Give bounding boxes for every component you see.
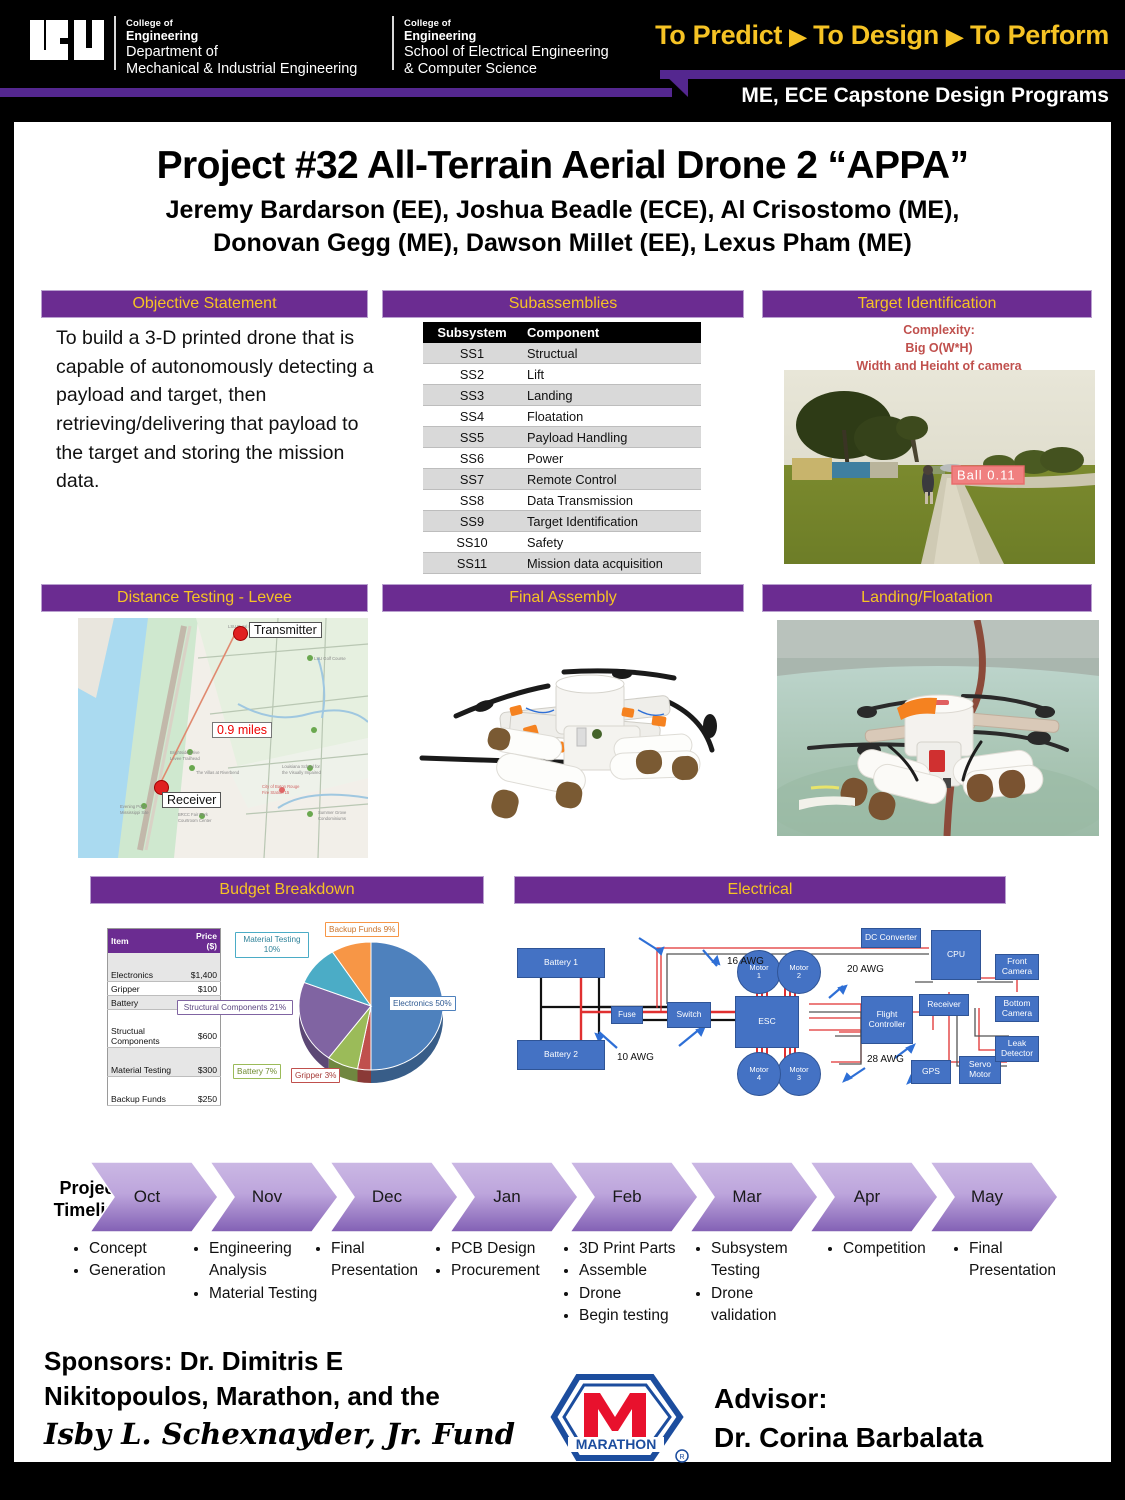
subsystem-id: SS1 (423, 343, 521, 364)
timeline-tasks-oct: ConceptGeneration (72, 1238, 204, 1283)
timeline-tasks-mar: Subsystem TestingDrone validation (694, 1238, 822, 1328)
svg-text:Condominiums: Condominiums (318, 816, 346, 821)
awg-label-20: 20 AWG (847, 964, 884, 975)
svg-text:Louisiana School for: Louisiana School for (282, 764, 321, 769)
block-gps: GPS (911, 1060, 951, 1084)
transmitter-label: Transmitter (249, 622, 322, 638)
timeline-chevron-oct: Oct (90, 1162, 218, 1232)
electrical-block-diagram: Battery 1 Battery 2 Fuse Switch ESC Flig… (509, 912, 1049, 1117)
receiver-label: Receiver (162, 792, 221, 808)
col-component: Component (521, 322, 701, 343)
table-row: SS6Power (423, 448, 701, 469)
timeline-month-label: Apr (810, 1162, 938, 1232)
list-item: Concept (89, 1238, 204, 1260)
block-fuse: Fuse (611, 1006, 643, 1024)
list-item: Final Presentation (969, 1238, 1092, 1283)
dept1-line1: Department of (126, 44, 357, 61)
poster-sheet: Project #32 All-Terrain Aerial Drone 2 “… (14, 122, 1111, 1462)
budget-header-row: Item Price ($) (108, 929, 221, 954)
section-header-objective: Objective Statement (41, 290, 368, 318)
svg-text:R: R (679, 1454, 684, 1461)
tagline-perform: To Perform (970, 20, 1109, 50)
block-receiver: Receiver (919, 994, 969, 1016)
banner-rule-right (660, 70, 1125, 79)
component-name: Mission data acquisition (521, 553, 701, 574)
detection-label-text: Ball 0.11 (957, 468, 1016, 483)
budget-item: Backup Funds (108, 1092, 184, 1106)
transmitter-pin-icon (233, 626, 248, 641)
subsystem-id: SS11 (423, 553, 521, 574)
subsystem-id: SS2 (423, 364, 521, 385)
marathon-wordmark: MARATHON (576, 1436, 657, 1452)
svg-text:Evening Point: Evening Point (120, 804, 147, 809)
list-item: Subsystem Testing (711, 1238, 822, 1283)
component-name: Target Identification (521, 511, 701, 532)
authors-line-2: Donovan Gegg (ME), Dawson Millet (EE), L… (14, 227, 1111, 260)
timeline-tasks-feb: 3D Print PartsAssembleDroneBegin testing (562, 1238, 694, 1328)
component-name: Power (521, 448, 701, 469)
subsystem-id: SS5 (423, 427, 521, 448)
subsystem-id: SS4 (423, 406, 521, 427)
component-name: Payload Handling (521, 427, 701, 448)
timeline-tasks-jan: PCB DesignProcurement (434, 1238, 566, 1283)
pie-label-battery: Battery 7% (233, 1064, 281, 1079)
table-row: Structual Components$600 (108, 1025, 221, 1048)
budget-table: Item Price ($) Electronics$1,400Gripper$… (107, 928, 221, 1106)
budget-price: $1,400 (183, 968, 220, 982)
subassemblies-table: Subsystem Component SS1StructualSS2LiftS… (423, 322, 701, 574)
block-front-camera: FrontCamera (995, 954, 1039, 980)
component-name: Remote Control (521, 469, 701, 490)
list-item: Generation (89, 1260, 204, 1282)
svg-text:Courtroom Center: Courtroom Center (178, 818, 212, 823)
list-item: Drone (579, 1283, 694, 1305)
motor-2-label: Motor2 (789, 964, 808, 981)
block-leak-detector: LeakDetector (995, 1036, 1039, 1062)
pie-label-electronics: Electronics 50% (389, 996, 456, 1011)
timeline-tasks-may: Final Presentation (952, 1238, 1092, 1283)
svg-text:Fire Station 15: Fire Station 15 (262, 790, 290, 795)
complexity-line-2: Big O(W*H) (794, 340, 1084, 358)
logo-divider (114, 16, 116, 70)
svg-text:The Villas at Riverbend: The Villas at Riverbend (196, 770, 240, 775)
timeline-tasks-apr: Competition (826, 1238, 958, 1260)
list-item: Engineering Analysis (209, 1238, 324, 1283)
sponsors-line-2: Nikitopoulos, Marathon, and the (44, 1379, 554, 1414)
timeline-month-label: Mar (690, 1162, 818, 1232)
component-name: Floatation (521, 406, 701, 427)
block-flight-controller: FlightController (861, 996, 913, 1044)
dept-ece-block: College of Engineering School of Electri… (404, 18, 609, 78)
table-row: SS7Remote Control (423, 469, 701, 490)
svg-text:LSU Golf Course: LSU Golf Course (314, 656, 346, 661)
section-header-target-id: Target Identification (762, 290, 1092, 318)
awg-label-28: 28 AWG (867, 1054, 904, 1065)
objective-statement-text: To build a 3-D printed drone that is cap… (56, 324, 378, 496)
section-header-electrical: Electrical (514, 876, 1006, 904)
timeline-month-label: Jan (450, 1162, 578, 1232)
table-row: SS5Payload Handling (423, 427, 701, 448)
component-name: Lift (521, 364, 701, 385)
list-item: PCB Design (451, 1238, 566, 1260)
final-assembly-photo (414, 630, 754, 840)
banner-subtitle: ME, ECE Capstone Design Programs (741, 84, 1109, 108)
svg-text:Brightside Drive: Brightside Drive (170, 750, 200, 755)
timeline-month-label: Dec (330, 1162, 458, 1232)
timeline-chevron-apr: Apr (810, 1162, 938, 1232)
pie-label-backup-funds: Backup Funds 9% (325, 922, 399, 937)
block-battery-2: Battery 2 (517, 1040, 605, 1070)
timeline-chevron-feb: Feb (570, 1162, 698, 1232)
table-row: Backup Funds$250 (108, 1092, 221, 1106)
timeline-month-label: May (930, 1162, 1058, 1232)
advisor-block: Advisor: Dr. Corina Barbalata (714, 1380, 983, 1457)
top-banner: College of Engineering Department of Mec… (0, 0, 1125, 118)
complexity-note: Complexity: Big O(W*H) Width and Height … (794, 322, 1084, 375)
arrow-right-icon-2: ▶ (946, 24, 963, 49)
budget-pie-chart: Electronics 50% Gripper 3% Battery 7% St… (239, 920, 504, 1105)
budget-price: $250 (183, 1092, 220, 1106)
spacer-row (108, 1077, 221, 1093)
complexity-line-1: Complexity: (794, 322, 1084, 340)
author-list: Jeremy Bardarson (EE), Joshua Beadle (EC… (14, 194, 1111, 261)
list-item: Begin testing (579, 1305, 694, 1327)
block-dc-converter: DC Converter (861, 928, 921, 948)
block-motor-3: Motor3 (777, 1052, 821, 1096)
tagline-predict: To Predict (655, 20, 782, 50)
landing-floatation-photo (777, 620, 1099, 836)
pie-label-gripper: Gripper 3% (291, 1068, 340, 1083)
subsystem-id: SS6 (423, 448, 521, 469)
sponsors-text: Sponsors: Dr. Dimitris E Nikitopoulos, M… (44, 1344, 554, 1413)
block-switch: Switch (667, 1002, 711, 1028)
marathon-logo-icon: MARATHON R (548, 1365, 708, 1470)
timeline-month-label: Nov (210, 1162, 338, 1232)
table-row: Gripper$100 (108, 982, 221, 996)
timeline-tasks-dec: Final Presentation (314, 1238, 436, 1283)
table-row: SS4Floatation (423, 406, 701, 427)
pie-label-material-testing: Material Testing 10% (235, 932, 309, 958)
pie-label-structural: Structural Components 21% (177, 1000, 293, 1015)
timeline-chevron-may: May (930, 1162, 1058, 1232)
distance-label: 0.9 miles (212, 722, 272, 738)
list-item: Drone validation (711, 1283, 822, 1328)
page-title: Project #32 All-Terrain Aerial Drone 2 “… (14, 144, 1111, 188)
dept1-line2: Mechanical & Industrial Engineering (126, 61, 357, 78)
timeline-chevron-dec: Dec (330, 1162, 458, 1232)
svg-text:City of Baton Rouge: City of Baton Rouge (262, 784, 300, 789)
banner-rule-left (0, 88, 672, 97)
sponsors-line-1: Sponsors: Dr. Dimitris E (44, 1344, 554, 1379)
list-item: 3D Print Parts (579, 1238, 694, 1260)
advisor-name: Dr. Corina Barbalata (714, 1419, 983, 1458)
table-row: SS8Data Transmission (423, 490, 701, 511)
svg-text:Levee Trailhead: Levee Trailhead (170, 756, 200, 761)
component-name: Safety (521, 532, 701, 553)
budget-item: Gripper (108, 982, 184, 996)
timeline-chevron-jan: Jan (450, 1162, 578, 1232)
lsu-logo-icon (28, 18, 104, 62)
table-row: Electronics$1,400 (108, 968, 221, 982)
budget-item: Electronics (108, 968, 184, 982)
dept1-college: College of (126, 18, 357, 29)
dept-mechanical-block: College of Engineering Department of Mec… (126, 18, 357, 78)
block-motor-4: Motor4 (737, 1052, 781, 1096)
budget-item: Battery (108, 996, 184, 1010)
awg-label-16: 16 AWG (727, 956, 764, 967)
budget-col-item: Item (108, 929, 184, 954)
levee-distance-map[interactable]: LSU Rural Life Brightside Drive Levee Tr… (78, 618, 368, 858)
list-item: Competition (843, 1238, 958, 1260)
subsystem-id: SS3 (423, 385, 521, 406)
logo-divider-2 (392, 16, 394, 70)
dept2-engineering: Engineering (404, 29, 609, 44)
list-item: Procurement (451, 1260, 566, 1282)
budget-price: $600 (183, 1025, 220, 1048)
table-row: Material Testing$300 (108, 1063, 221, 1077)
budget-item: Material Testing (108, 1063, 184, 1077)
spacer-row (108, 1048, 221, 1064)
fund-name: Isby L. Schexnayder, Jr. Fund (44, 1417, 554, 1451)
target-detection-photo: Ball 0.11 (784, 370, 1095, 564)
timeline-chevron-nov: Nov (210, 1162, 338, 1232)
block-esc: ESC (735, 996, 799, 1048)
svg-text:Summer Grove: Summer Grove (318, 810, 347, 815)
svg-text:the Visually Impaired: the Visually Impaired (282, 770, 321, 775)
section-header-subassemblies: Subassemblies (382, 290, 744, 318)
table-row: SS9Target Identification (423, 511, 701, 532)
subsystem-id: SS8 (423, 490, 521, 511)
timeline-month-label: Oct (90, 1162, 218, 1232)
subsystem-id: SS9 (423, 511, 521, 532)
table-row: SS2Lift (423, 364, 701, 385)
authors-line-1: Jeremy Bardarson (EE), Joshua Beadle (EC… (14, 194, 1111, 227)
block-motor-2: Motor2 (777, 950, 821, 994)
awg-label-10: 10 AWG (617, 1052, 654, 1063)
component-name: Data Transmission (521, 490, 701, 511)
section-header-distance-testing: Distance Testing - Levee (41, 584, 368, 612)
section-header-landing-floatation: Landing/Floatation (762, 584, 1092, 612)
dept2-line2: & Computer Science (404, 61, 609, 78)
tagline-design: To Design (813, 20, 939, 50)
motor-4-label: Motor4 (749, 1066, 768, 1083)
list-item: Material Testing (209, 1283, 324, 1305)
block-bottom-camera: BottomCamera (995, 996, 1039, 1022)
budget-item: Structual Components (108, 1025, 184, 1048)
component-name: Landing (521, 385, 701, 406)
pie-slice-side (358, 1069, 371, 1083)
component-name: Structual (521, 343, 701, 364)
table-row: SS11Mission data acquisition (423, 553, 701, 574)
subsystem-id: SS7 (423, 469, 521, 490)
poster-root: College of Engineering Department of Mec… (0, 0, 1125, 1500)
list-item: Final Presentation (331, 1238, 436, 1283)
table-row: SS3Landing (423, 385, 701, 406)
block-cpu: CPU (931, 930, 981, 980)
advisor-label: Advisor: (714, 1380, 983, 1419)
dept2-line1: School of Electrical Engineering (404, 44, 609, 61)
budget-price: $300 (183, 1063, 220, 1077)
table-row: SS1Structual (423, 343, 701, 364)
spacer-row (108, 953, 221, 968)
arrow-right-icon-1: ▶ (789, 24, 806, 49)
dept2-college: College of (404, 18, 609, 29)
motor-3-label: Motor3 (789, 1066, 808, 1083)
timeline-tasks-nov: Engineering AnalysisMaterial Testing (192, 1238, 324, 1305)
timeline-month-label: Feb (570, 1162, 698, 1232)
svg-text:Mississippi Site: Mississippi Site (120, 810, 149, 815)
table-header-row: Subsystem Component (423, 322, 701, 343)
budget-price: $100 (183, 982, 220, 996)
banner-tagline: To Predict ▶ To Design ▶ To Perform (655, 20, 1109, 51)
dept1-engineering: Engineering (126, 29, 357, 44)
svg-text:BRCC Fair Park: BRCC Fair Park (178, 812, 209, 817)
timeline-chevron-mar: Mar (690, 1162, 818, 1232)
col-subsystem: Subsystem (423, 322, 521, 343)
budget-col-price: Price ($) (183, 929, 220, 954)
subsystem-id: SS10 (423, 532, 521, 553)
section-header-budget: Budget Breakdown (90, 876, 484, 904)
section-header-final-assembly: Final Assembly (382, 584, 744, 612)
block-battery-1: Battery 1 (517, 948, 605, 978)
table-row: SS10Safety (423, 532, 701, 553)
list-item: Assemble (579, 1260, 694, 1282)
